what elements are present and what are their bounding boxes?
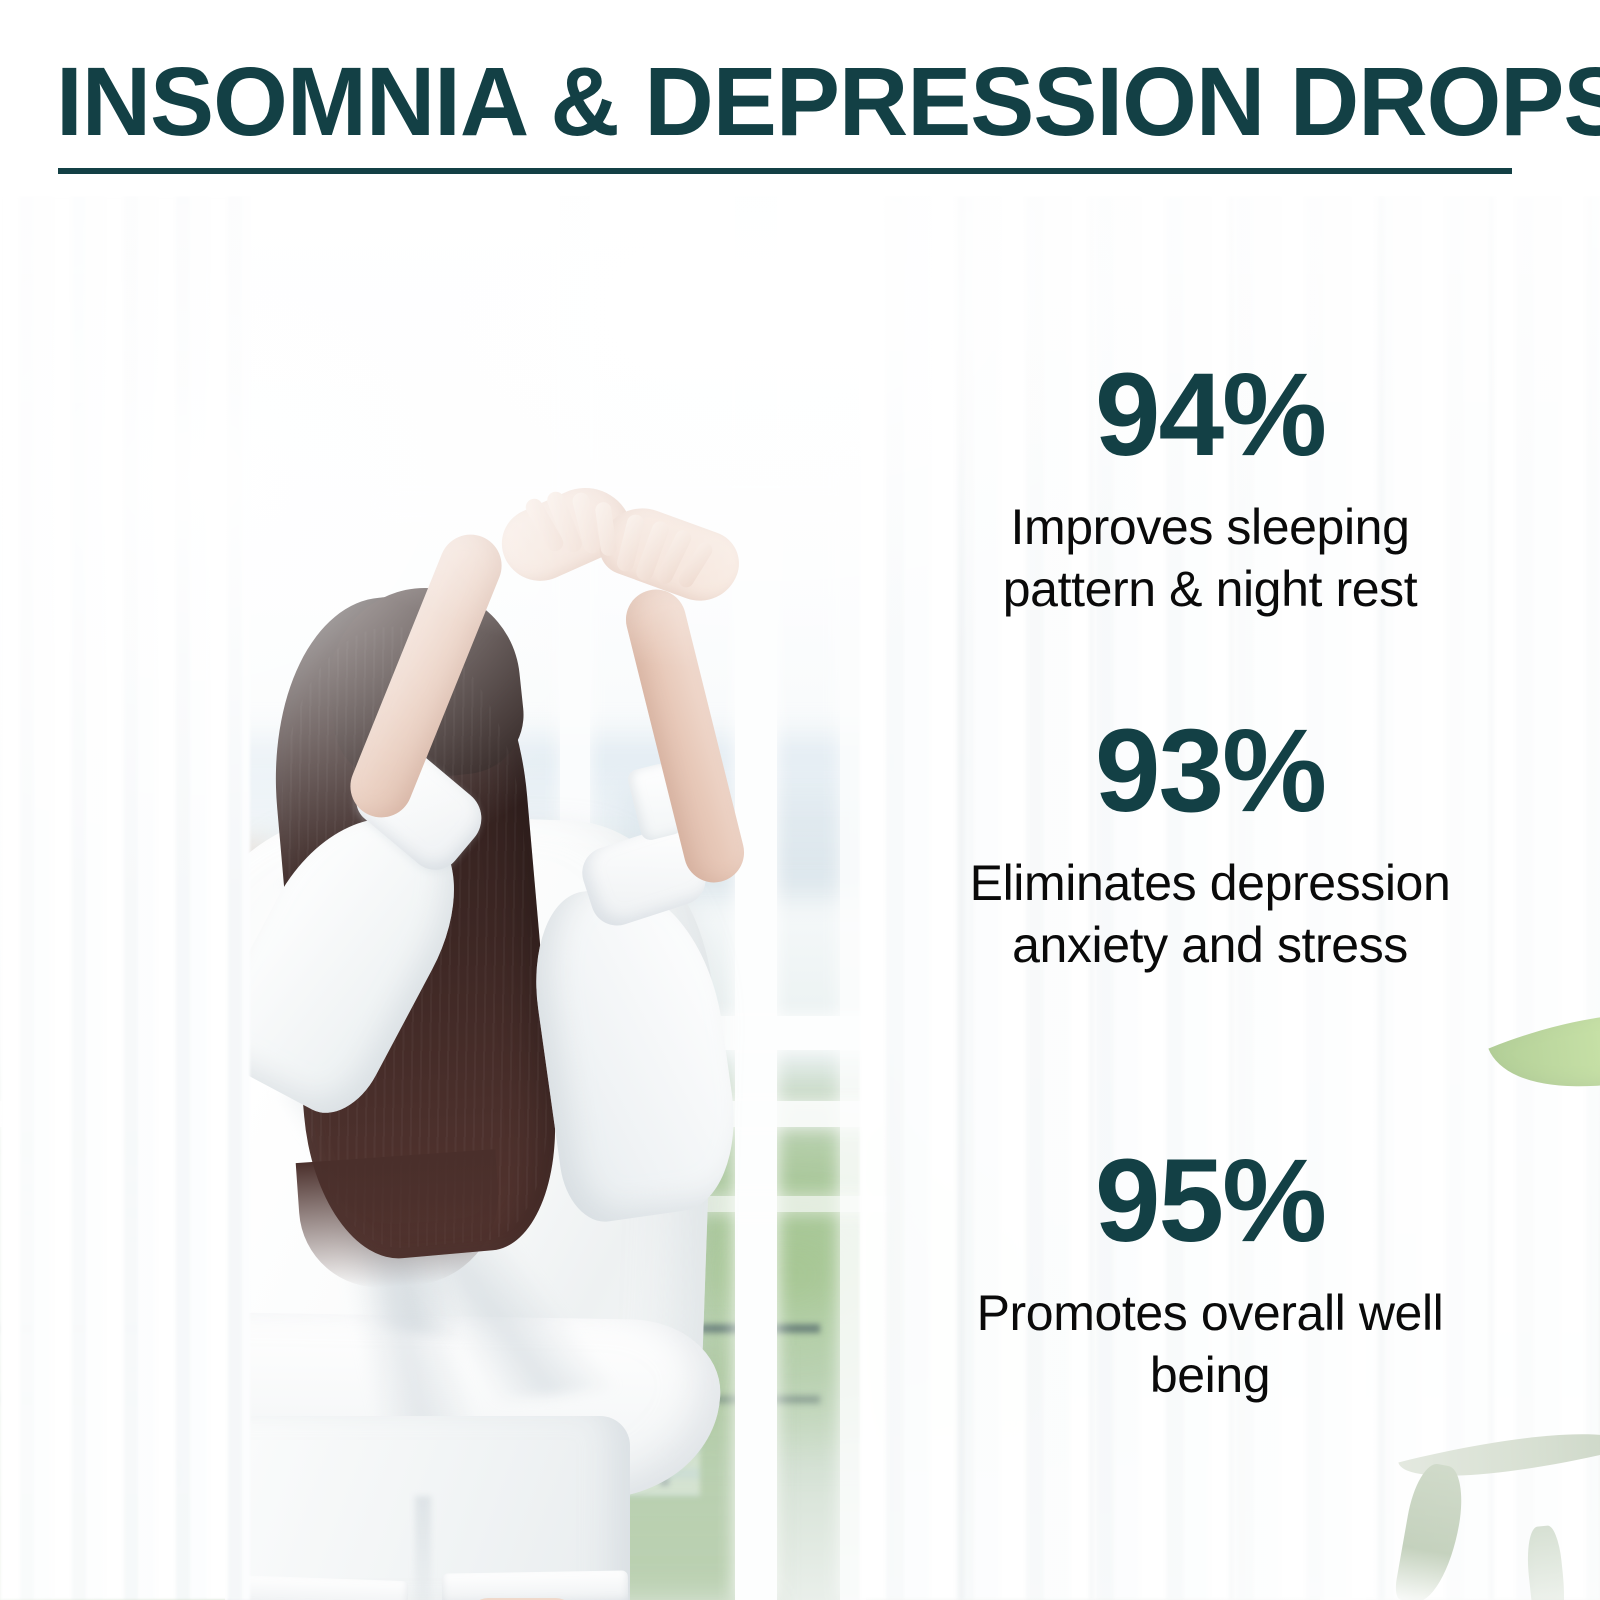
infographic-poster: INSOMNIA & DEPRESSION DROPS 94% Improves…: [0, 0, 1600, 1600]
title-divider: [58, 168, 1512, 174]
stat-description-1-line2: pattern & night rest: [1003, 561, 1417, 617]
page-title: INSOMNIA & DEPRESSION DROPS: [56, 52, 1511, 152]
stat-block-1: 94% Improves sleeping pattern & night re…: [880, 356, 1540, 620]
stats-column: 94% Improves sleeping pattern & night re…: [880, 0, 1540, 1600]
stat-value-3: 95%: [880, 1142, 1540, 1260]
stat-description-2: Eliminates depression anxiety and stress: [880, 852, 1540, 976]
stat-description-3-line2: being: [1150, 1347, 1270, 1403]
shorts-seam: [415, 1496, 431, 1600]
stat-description-3: Promotes overall well being: [880, 1282, 1540, 1406]
stat-description-2-line1: Eliminates depression: [970, 855, 1451, 911]
stat-block-2: 93% Eliminates depression anxiety and st…: [880, 712, 1540, 976]
sheer-curtain-left: [0, 196, 250, 1600]
stat-value-1: 94%: [880, 356, 1540, 474]
shorts-cuff-right: [442, 1570, 629, 1600]
stat-block-3: 95% Promotes overall well being: [880, 1142, 1540, 1406]
stat-description-1: Improves sleeping pattern & night rest: [880, 496, 1540, 620]
header: INSOMNIA & DEPRESSION DROPS: [0, 0, 1600, 196]
stat-value-2: 93%: [880, 712, 1540, 830]
stat-description-2-line2: anxiety and stress: [1012, 917, 1408, 973]
stat-description-1-line1: Improves sleeping: [1011, 499, 1410, 555]
stat-description-3-line1: Promotes overall well: [977, 1285, 1444, 1341]
